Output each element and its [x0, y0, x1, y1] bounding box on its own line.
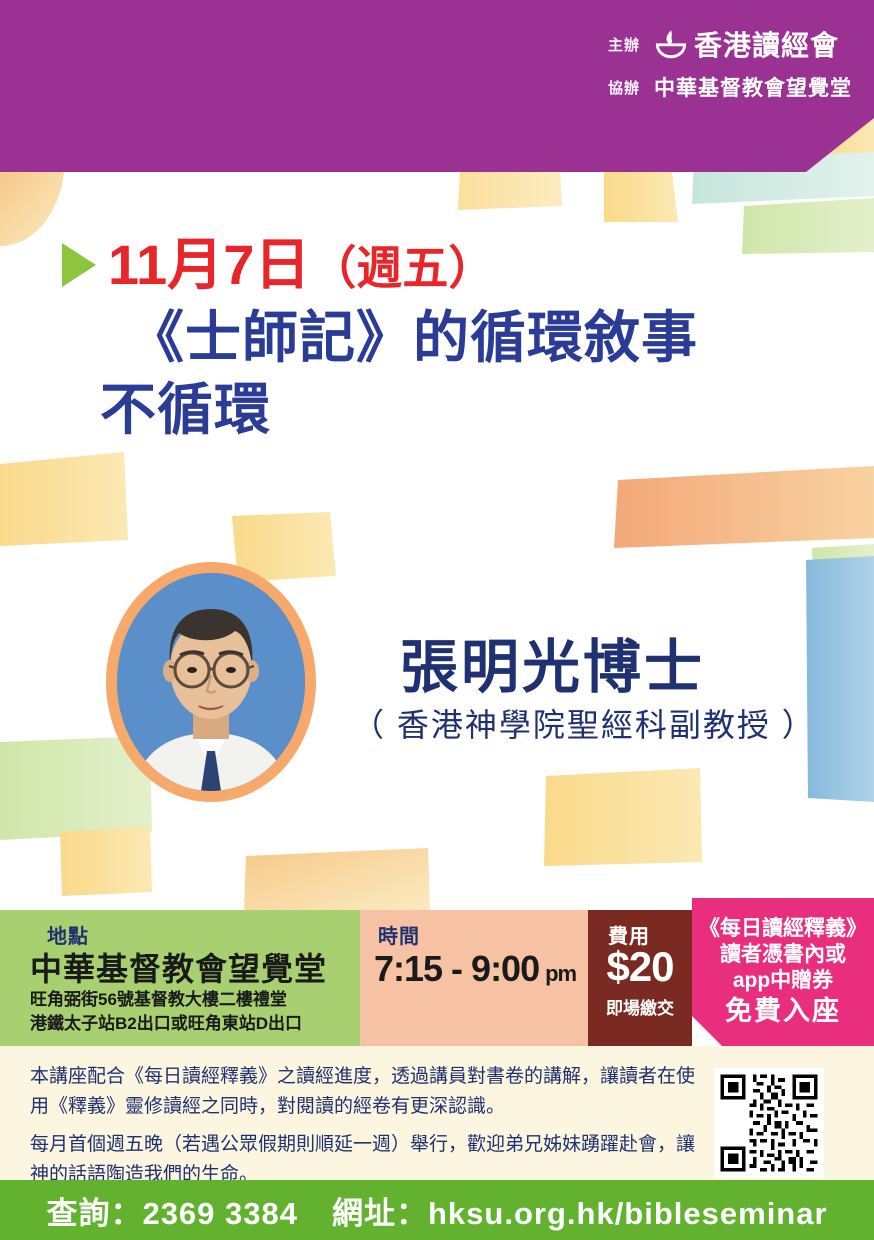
fee-note: 即場繳交 — [596, 994, 684, 1019]
cohost-row: 協辦 中華基督教會望覺堂 — [608, 72, 852, 102]
qr-code[interactable] — [714, 1068, 824, 1178]
seminar-topic-line2: 不循環 — [0, 374, 874, 446]
organizer-block: 主辦 香港讀經會 協辦 中華基督教會望覺堂 — [608, 24, 852, 110]
time-section: 時間 7:15 - 9:00pm — [360, 910, 588, 1046]
time-suffix: pm — [545, 961, 576, 986]
free-line-2: 讀者憑書內或 — [692, 942, 874, 968]
venue-name: 中華基督教會望覺堂 — [30, 944, 327, 990]
organizer-brand: 香港讀經會 — [654, 24, 839, 64]
seminar-weekday: （週五） — [310, 232, 494, 298]
time-label: 時間 — [378, 920, 420, 949]
free-line-4: 免費入座 — [692, 994, 874, 1028]
seminar-date: 11月7日 — [108, 234, 310, 296]
organizer-name: 香港讀經會 — [694, 24, 839, 64]
seminar-date-row: 11月7日 （週五） — [0, 232, 874, 298]
free-admission-text: 《每日讀經釋義》 讀者憑書內或 app中贈券 免費入座 — [692, 916, 874, 1028]
free-line-1: 《每日讀經釋義》 — [692, 916, 874, 942]
speaker-affiliation: （ 香港神學院聖經科副教授 ） — [352, 700, 816, 746]
contact-phone[interactable]: 查詢：2369 3384 — [46, 1188, 298, 1233]
venue-section: 地點 中華基督教會望覺堂 旺角弼街56號基督教大樓二樓禮堂 港鐵太子站B2出口或… — [0, 910, 360, 1046]
organizer-row: 主辦 香港讀經會 — [608, 24, 852, 64]
poster-root: 2025年11月 每月讀經專題講座 主辦 香港讀經會 協辦 中華基督教會望覺堂 — [0, 0, 874, 1240]
venue-address: 旺角弼街56號基督教大樓二樓禮堂 港鐵太子站B2出口或旺角東站D出口 — [30, 988, 302, 1036]
speaker-photo — [117, 573, 305, 791]
cohost-name: 中華基督教會望覺堂 — [654, 72, 852, 102]
free-line-3: app中贈券 — [692, 968, 874, 994]
fee-amount: $20 — [598, 943, 682, 991]
lamp-logo-icon — [654, 27, 688, 61]
free-admission-section: 《每日讀經釋義》 讀者憑書內或 app中贈券 免費入座 — [692, 898, 874, 1046]
play-triangle-icon — [62, 243, 96, 287]
seminar-title-block: 11月7日 （週五） 《士師記》的循環敘事 不循環 — [0, 232, 874, 446]
time-value: 7:15 - 9:00 — [374, 948, 539, 989]
organizer-label: 主辦 — [608, 34, 642, 55]
seminar-topic-line1: 《士師記》的循環敘事 — [0, 302, 874, 374]
cohost-label: 協辦 — [608, 77, 642, 98]
poster-footer: 查詢：2369 3384 網址：hksu.org.hk/bibleseminar — [0, 1180, 874, 1240]
time-value-row: 7:15 - 9:00pm — [374, 948, 576, 990]
contact-website[interactable]: 網址：hksu.org.hk/bibleseminar — [332, 1188, 828, 1233]
speaker-name: 張明光博士 — [400, 620, 705, 704]
info-bar: 地點 中華基督教會望覺堂 旺角弼街56號基督教大樓二樓禮堂 港鐵太子站B2出口或… — [0, 910, 874, 1046]
venue-address-line1: 旺角弼街56號基督教大樓二樓禮堂 — [30, 988, 302, 1012]
description-paragraph-1: 本講座配合《每日讀經釋義》之讀經進度，透過講員對書卷的講解，讓讀者在使用《釋義》… — [30, 1062, 710, 1122]
speaker-portrait — [106, 562, 316, 802]
fee-section: 費用 $20 即場繳交 — [588, 910, 692, 1046]
venue-address-line2: 港鐵太子站B2出口或旺角東站D出口 — [30, 1012, 302, 1036]
description-text: 本講座配合《每日讀經釋義》之讀經進度，透過講員對書卷的講解，讓讀者在使用《釋義》… — [30, 1062, 710, 1198]
